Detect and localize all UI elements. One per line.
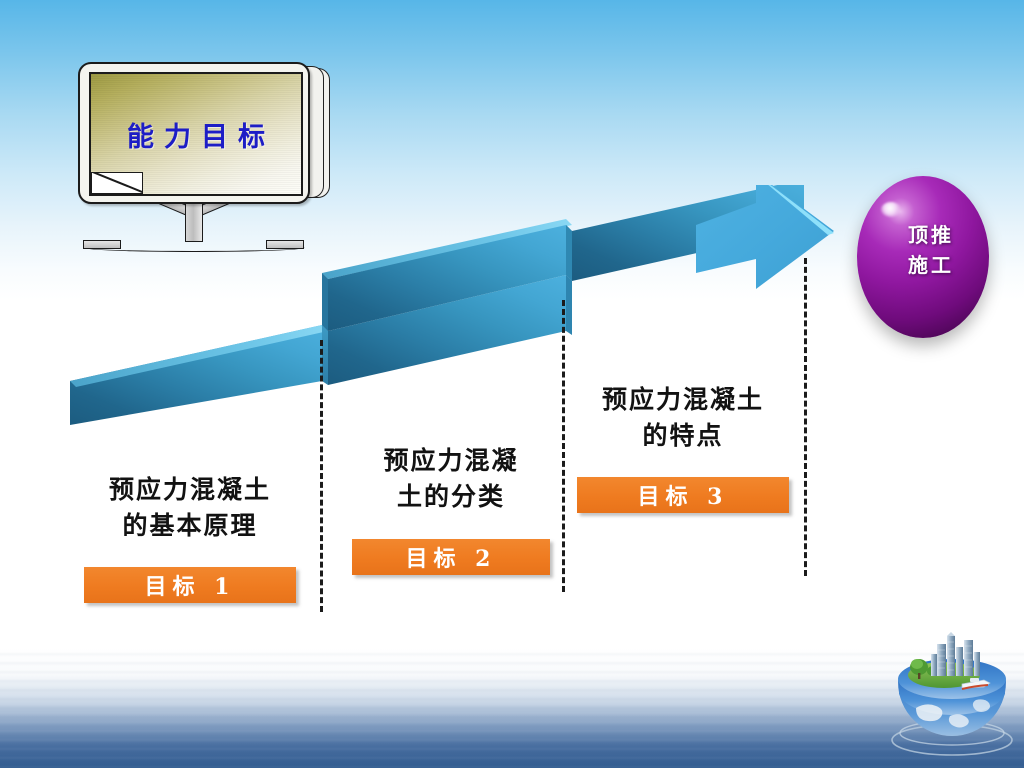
- objective-label-1: 预应力混凝土 的基本原理: [70, 472, 310, 543]
- objective-badge-2[interactable]: 目标 2: [352, 539, 550, 575]
- objective-item-1[interactable]: 预应力混凝土 的基本原理 目标 1: [70, 472, 310, 603]
- objective-item-2[interactable]: 预应力混凝 土的分类 目标 2: [345, 443, 557, 575]
- objective-label-3: 预应力混凝土 的特点: [568, 382, 798, 453]
- slide-canvas: 能力目标: [0, 0, 1024, 768]
- goal-sphere[interactable]: 顶推 施工: [857, 176, 989, 338]
- globe-city-icon: [888, 632, 1016, 758]
- divider-2: [562, 300, 565, 592]
- divider-3: [804, 258, 807, 576]
- objective-badge-3[interactable]: 目标 3: [577, 477, 789, 513]
- objective-badge-1[interactable]: 目标 1: [84, 567, 296, 603]
- page-title: 能力目标: [117, 115, 275, 154]
- background-water-texture: [0, 648, 1024, 768]
- monitor-frame: 能力目标: [78, 62, 310, 204]
- sphere-highlight: [881, 202, 901, 217]
- objective-label-2: 预应力混凝 土的分类: [345, 443, 557, 514]
- objective-item-3[interactable]: 预应力混凝土 的特点 目标 3: [568, 382, 798, 513]
- goal-sphere-label: 顶推 施工: [908, 220, 954, 280]
- divider-1: [320, 340, 323, 612]
